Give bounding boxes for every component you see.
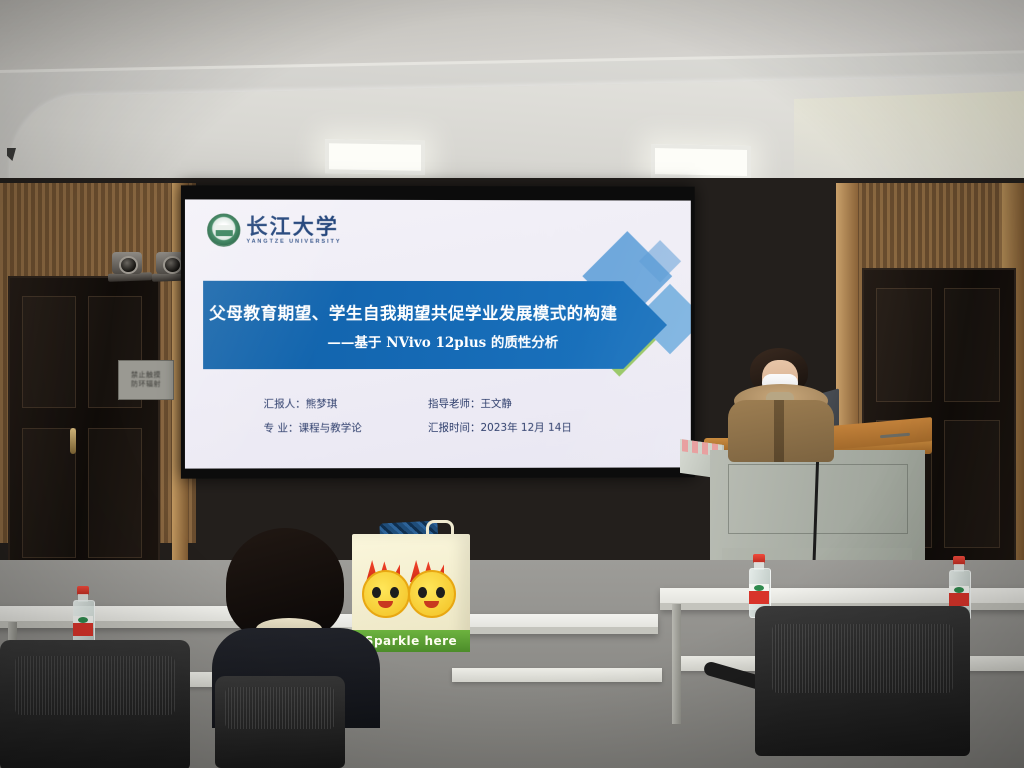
university-logo: 长江大学 YANGTZE UNIVERSITY [207, 214, 341, 247]
bottle-label [749, 584, 769, 604]
cartoon-face-right-icon [408, 570, 456, 618]
presenter-coat [728, 400, 834, 462]
table-right-leg [672, 604, 681, 724]
meta-major: 专 业：课程与教学论 [264, 420, 406, 435]
water-bottle-left [72, 586, 94, 648]
lecture-room-photo: 禁止触摸 防环辐射 长江大学 YANGTZE UNIVERSITY [0, 0, 1024, 768]
ceiling-panel-light-left [325, 139, 425, 175]
wall-camera-left-icon [108, 252, 148, 282]
meta-date: 汇报时间：2023年 12月 14日 [428, 420, 572, 435]
ceiling-panel-light-right [651, 144, 751, 180]
door-panel [944, 288, 1000, 402]
meta-advisor: 指导老师：王文静 [428, 396, 572, 411]
door-panel [22, 428, 76, 558]
slide-meta-block: 汇报人：熊梦琪 指导老师：王文静 专 业：课程与教学论 汇报时间：2023年 1… [264, 396, 572, 435]
university-crest-icon [207, 214, 240, 247]
chair-front-left[interactable] [0, 640, 190, 768]
presenter [722, 348, 842, 458]
door-left[interactable] [8, 276, 160, 580]
slide-title-subtitle: ——基于 NVivo 12plus 的质性分析 [269, 330, 558, 350]
chair-front-right[interactable] [755, 606, 970, 768]
door-panel [88, 428, 142, 558]
projection-screen: 长江大学 YANGTZE UNIVERSITY 父母教育期望、学生自我期望共促学… [181, 185, 695, 478]
door-sign-line-2: 防环辐射 [131, 381, 161, 389]
chair-middle[interactable] [215, 676, 345, 768]
door-panel [22, 296, 76, 408]
bottle-label [73, 616, 93, 636]
table-middle-shelf [452, 668, 662, 682]
meta-presenter: 汇报人：熊梦琪 [264, 396, 406, 411]
presentation-slide: 长江大学 YANGTZE UNIVERSITY 父母教育期望、学生自我期望共促学… [185, 199, 691, 468]
university-name-cn: 长江大学 [246, 215, 341, 236]
door-warning-sign: 禁止触摸 防环辐射 [118, 360, 174, 400]
slide-title-main: 父母教育期望、学生自我期望共促学业发展模式的构建 [209, 299, 617, 323]
door-handle[interactable] [70, 428, 76, 454]
door-sign-line-1: 禁止触摸 [131, 372, 161, 380]
bottle-label [949, 586, 969, 606]
door-panel [944, 420, 1000, 548]
slide-title-band: 父母教育期望、学生自我期望共促学业发展模式的构建 ——基于 NVivo 12pl… [203, 281, 623, 369]
university-name-en: YANGTZE UNIVERSITY [246, 239, 341, 245]
